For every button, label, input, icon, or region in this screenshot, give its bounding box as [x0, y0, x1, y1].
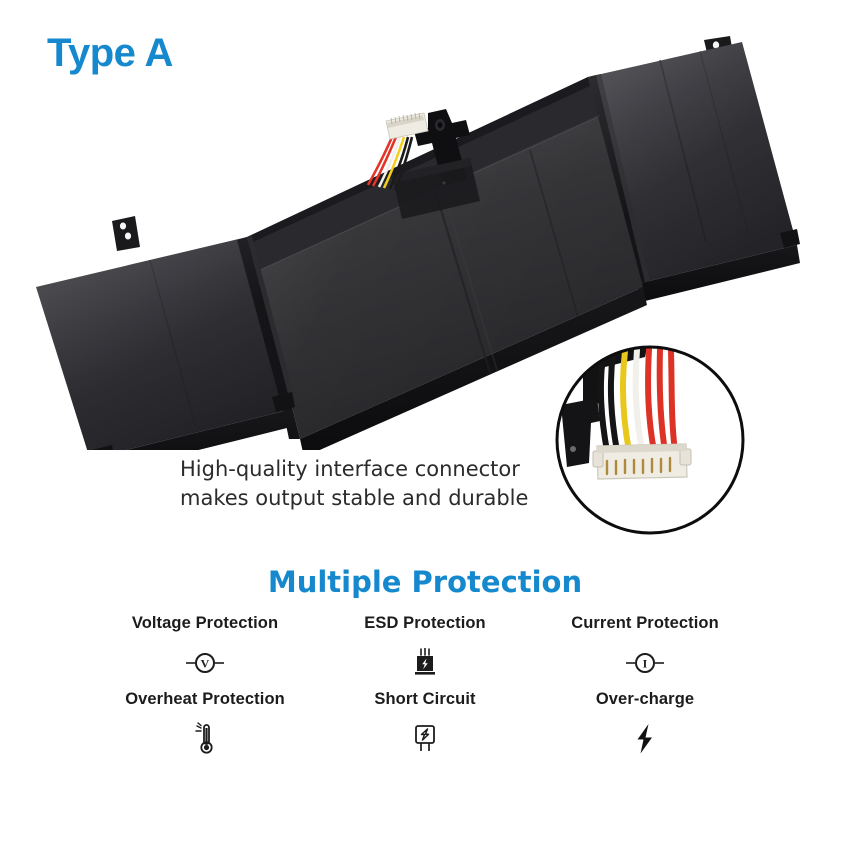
- svg-text:V: V: [201, 657, 210, 671]
- protection-label-esd: ESD Protection: [364, 614, 486, 633]
- short-circuit-icon: [411, 722, 439, 756]
- protection-feature-grid: Voltage Protection V ESD Protection: [95, 614, 755, 766]
- esd-icon: [412, 646, 438, 680]
- protection-label-voltage: Voltage Protection: [132, 614, 278, 633]
- protection-item-esd: ESD Protection: [315, 614, 535, 690]
- protection-label-over-charge: Over-charge: [596, 690, 694, 709]
- svg-text:I: I: [643, 657, 648, 671]
- protection-item-current: Current Protection I: [535, 614, 755, 690]
- protection-item-voltage: Voltage Protection V: [95, 614, 315, 690]
- protection-section-title: Multiple Protection: [0, 565, 850, 599]
- connector-caption-line-2: makes output stable and durable: [180, 484, 550, 513]
- protection-row-1: Voltage Protection V ESD Protection: [95, 614, 755, 690]
- product-feature-image: Type A: [0, 0, 850, 854]
- voltmeter-icon: V: [184, 646, 226, 680]
- protection-label-overheat: Overheat Protection: [125, 690, 285, 709]
- protection-label-short-circuit: Short Circuit: [374, 690, 475, 709]
- connector-housing-closeup: [593, 444, 691, 479]
- thermometer-icon: [192, 722, 218, 756]
- protection-item-overheat: Overheat Protection: [95, 690, 315, 766]
- protection-row-2: Overheat Protection: [95, 690, 755, 766]
- lightning-bolt-icon: [633, 722, 657, 756]
- ammeter-icon: I: [624, 646, 666, 680]
- connector-caption-line-1: High-quality interface connector: [180, 455, 550, 484]
- connector-caption: High-quality interface connector makes o…: [180, 455, 550, 513]
- protection-item-short-circuit: Short Circuit: [315, 690, 535, 766]
- connector-closeup-circle: [553, 343, 747, 537]
- protection-item-over-charge: Over-charge: [535, 690, 755, 766]
- protection-label-current: Current Protection: [571, 614, 719, 633]
